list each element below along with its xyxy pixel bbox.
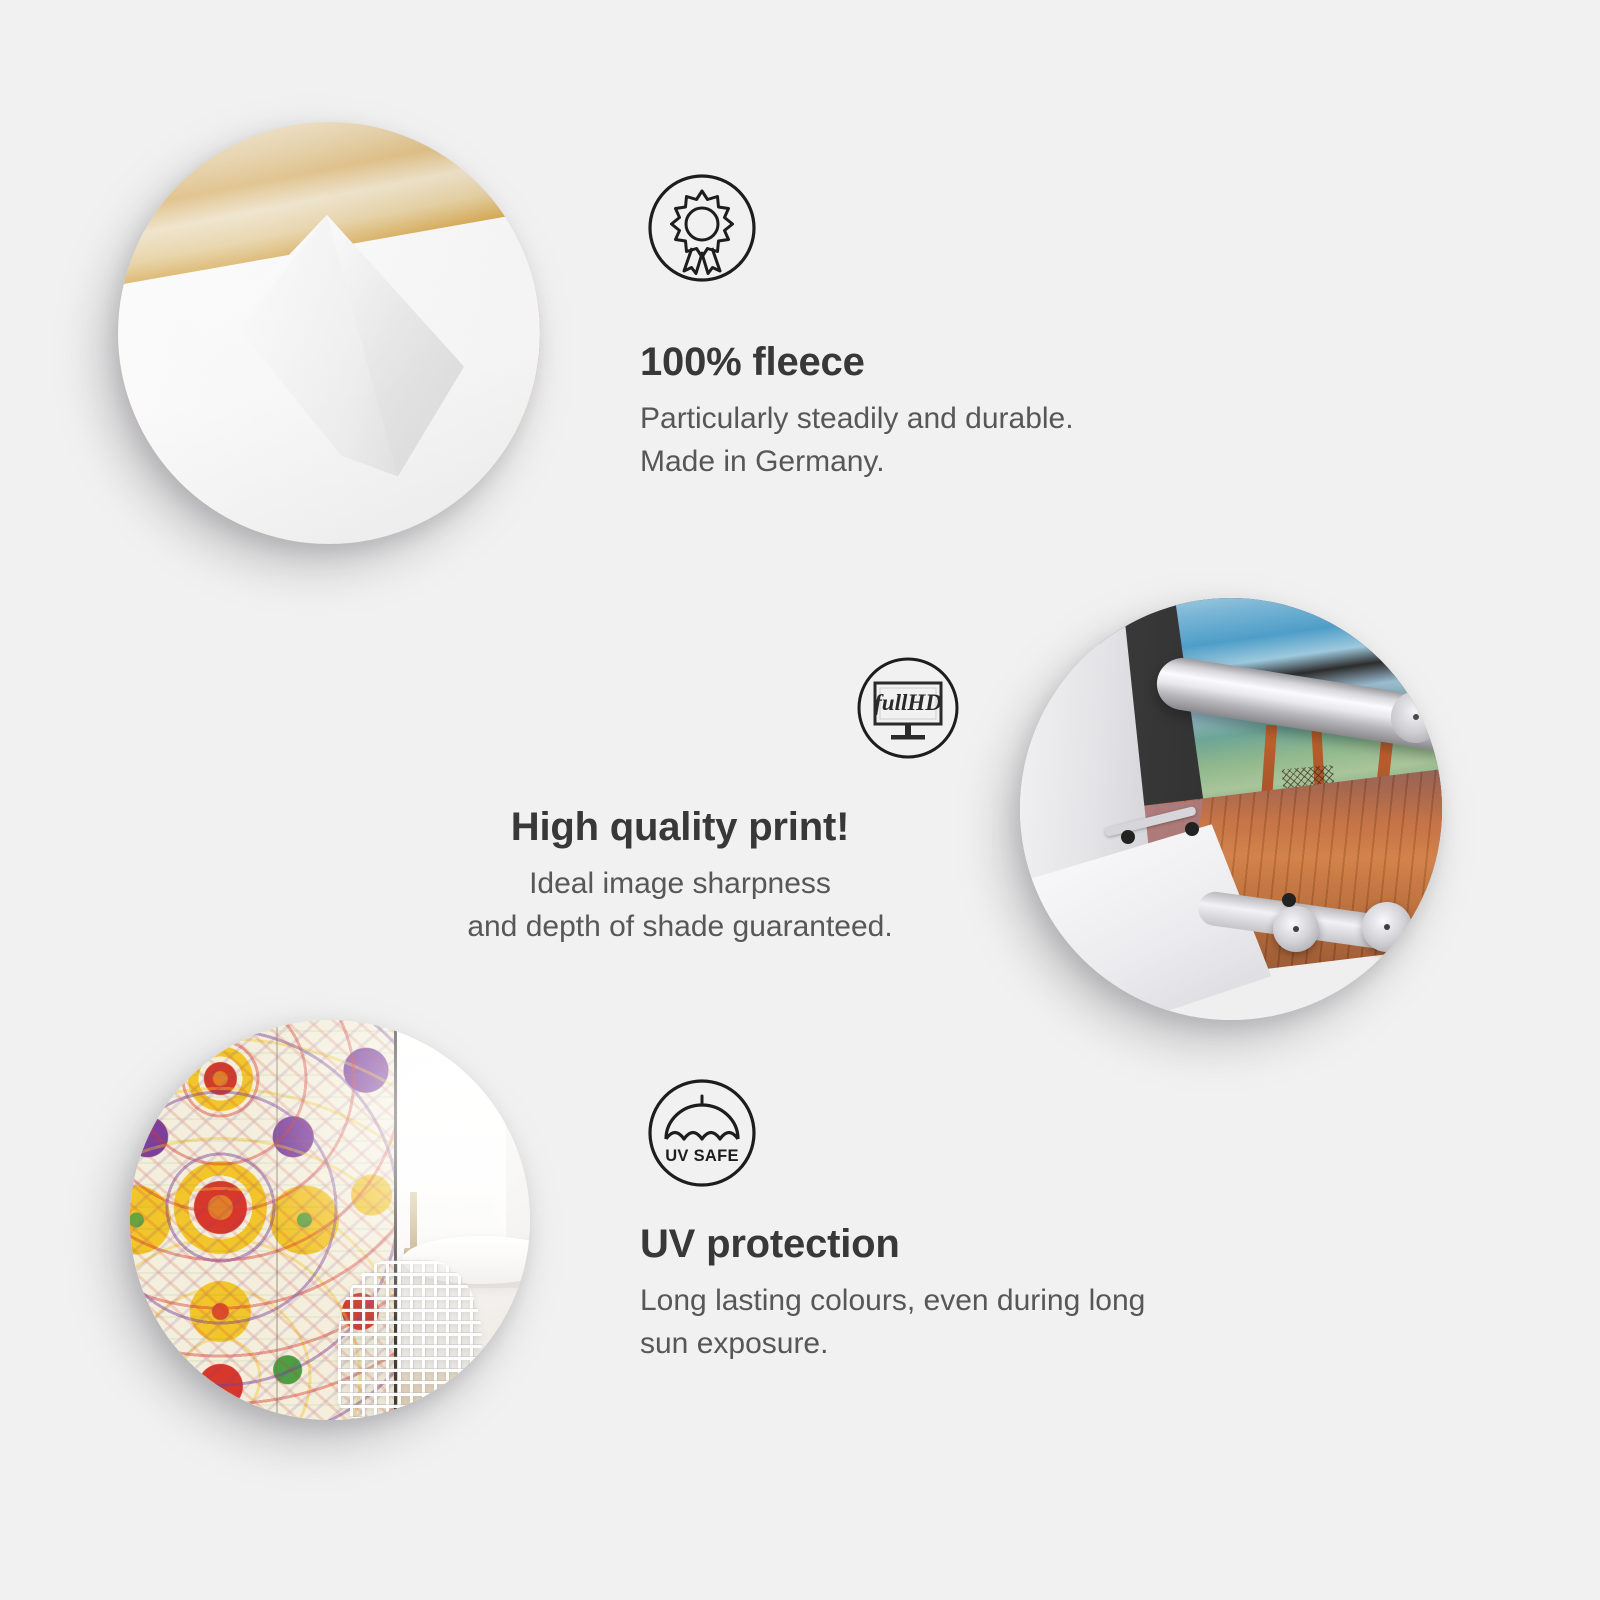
wire-chair	[338, 1260, 482, 1420]
printer-wheel	[1273, 906, 1319, 952]
infographic-stage: 100% fleece Particularly steadily and du…	[0, 0, 1600, 1600]
printer-knob	[1282, 893, 1296, 907]
fullhd-icon-label: fullHD	[874, 690, 942, 715]
feature-text-print: High quality print! Ideal image sharpnes…	[360, 805, 1000, 948]
feature-desc-fleece: Particularly steadily and durable. Made …	[640, 398, 1340, 483]
uv-safe-icon-label: UV SAFE	[665, 1147, 739, 1165]
printer-knob	[1185, 822, 1199, 836]
feature-title-fleece: 100% fleece	[640, 340, 1340, 384]
fleece-wallpaper-peeled-corner-photo	[118, 122, 540, 544]
printer-wheel	[1362, 902, 1412, 952]
feature-text-fleece: 100% fleece Particularly steadily and du…	[640, 340, 1340, 483]
photo-inner	[118, 122, 540, 544]
award-rosette-icon	[646, 172, 758, 284]
feature-title-print: High quality print!	[360, 805, 1000, 849]
mural-panel-seam	[276, 1020, 278, 1420]
photo-inner	[130, 1020, 530, 1420]
uv-safe-umbrella-icon: UV SAFE	[646, 1077, 758, 1189]
mandala-mural-interior-photo	[130, 1020, 530, 1420]
photo-inner	[1020, 598, 1442, 1020]
feature-title-uv: UV protection	[640, 1222, 1360, 1266]
feature-text-uv: UV protection Long lasting colours, even…	[640, 1222, 1360, 1365]
photo-lighting-overlay	[118, 122, 540, 544]
feature-desc-print: Ideal image sharpness and depth of shade…	[360, 863, 1000, 948]
large-format-printer-photo	[1020, 598, 1442, 1020]
fullhd-monitor-icon: fullHD	[856, 656, 960, 760]
feature-desc-uv: Long lasting colours, even during long s…	[640, 1280, 1360, 1365]
